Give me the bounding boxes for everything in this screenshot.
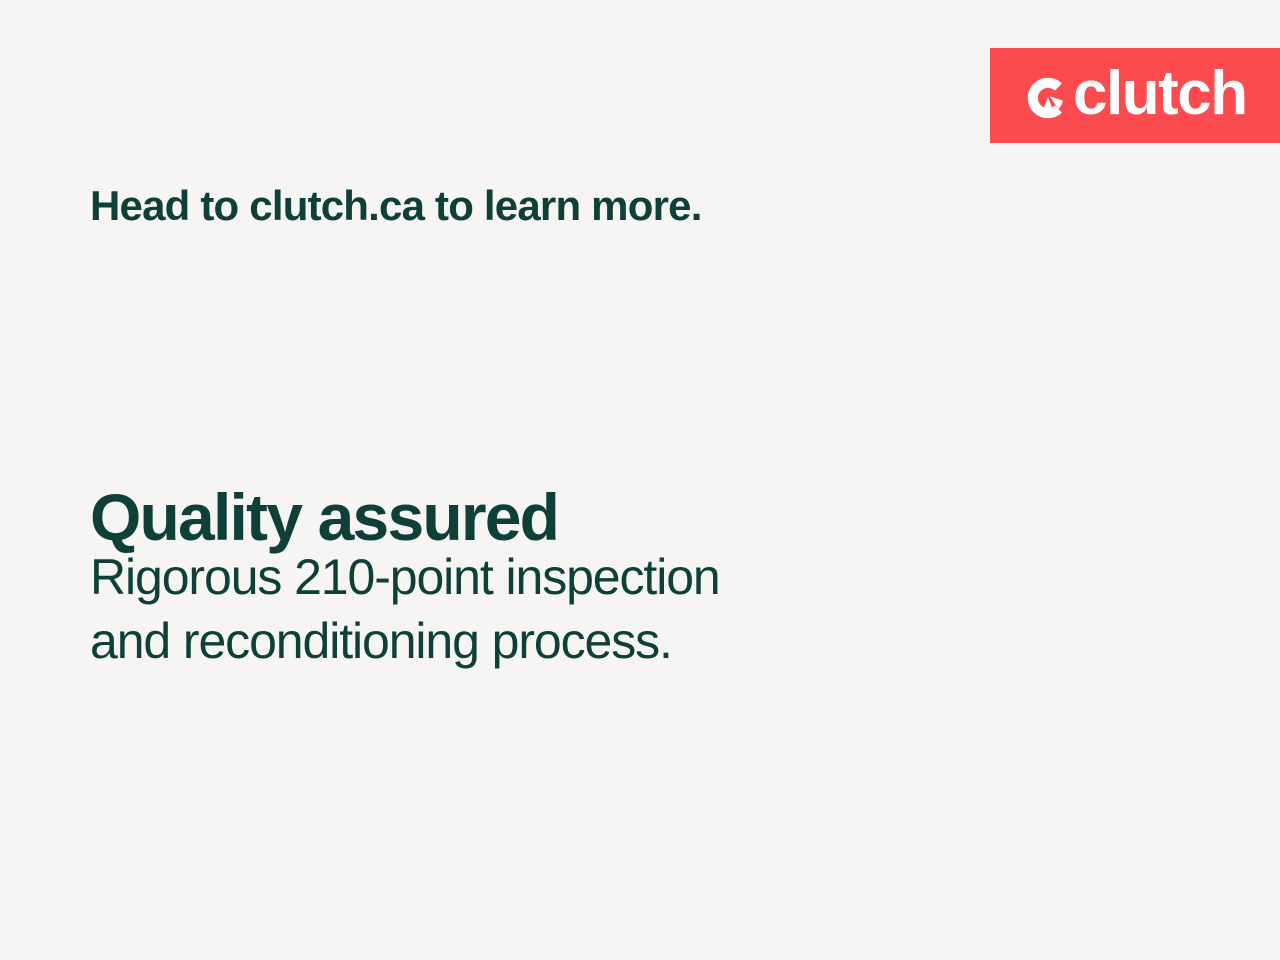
- clutch-wheel-icon: [1026, 76, 1070, 120]
- slide-canvas: clutch Head to clutch.ca to learn more. …: [0, 0, 1280, 960]
- clutch-logo-wordmark: clutch: [1073, 63, 1247, 125]
- subcopy-block: Rigorous 210-point inspection and recond…: [90, 545, 720, 673]
- tagline-text: Head to clutch.ca to learn more.: [90, 181, 702, 231]
- headline-text: Quality assured: [90, 481, 558, 554]
- subcopy-line-1: Rigorous 210-point inspection: [90, 545, 720, 609]
- clutch-logo[interactable]: clutch: [990, 48, 1280, 143]
- subcopy-line-2: and reconditioning process.: [90, 609, 720, 673]
